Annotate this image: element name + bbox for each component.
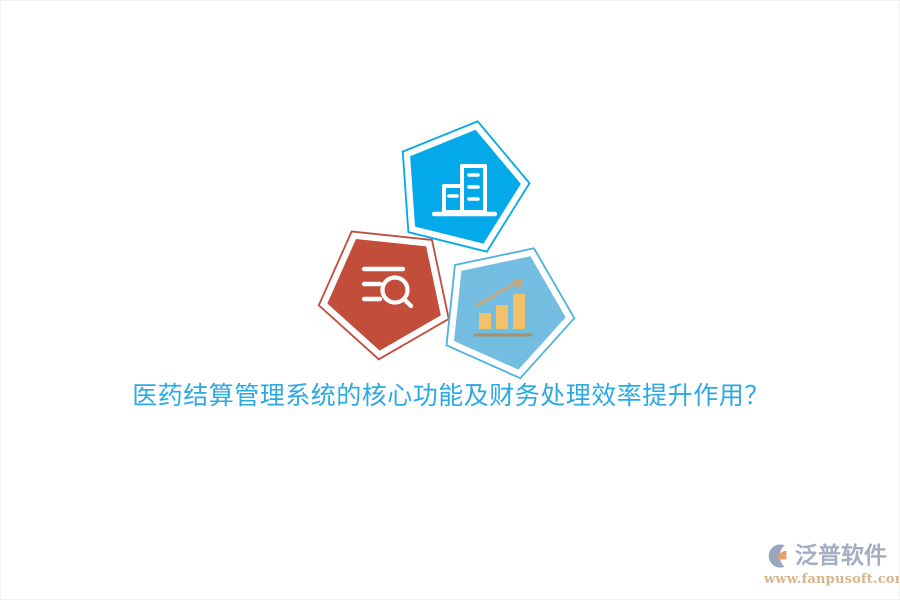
page-title: 医药结算管理系统的核心功能及财务处理效率提升作用？: [1, 379, 900, 413]
fanpu-logo-mark-icon: [763, 542, 793, 570]
brand-logo[interactable]: 泛普软件 www.fanpusoft.com: [763, 541, 887, 587]
chart-bar-3: [513, 294, 525, 329]
pentagon-emblem-group: [301, 106, 601, 381]
pentagon-growth[interactable]: [444, 240, 581, 383]
brand-logo-top: 泛普软件: [763, 541, 887, 571]
chart-bar-1: [479, 313, 491, 329]
chart-bar-2: [496, 305, 508, 329]
poster-canvas: 医药结算管理系统的核心功能及财务处理效率提升作用？ 泛普软件 www.fanpu…: [0, 0, 900, 600]
pentagon-enterprise[interactable]: [384, 106, 541, 258]
pentagon-emblem-svg: [301, 106, 601, 381]
brand-website-url: www.fanpusoft.com: [764, 572, 900, 587]
brand-name: 泛普软件: [795, 543, 887, 569]
